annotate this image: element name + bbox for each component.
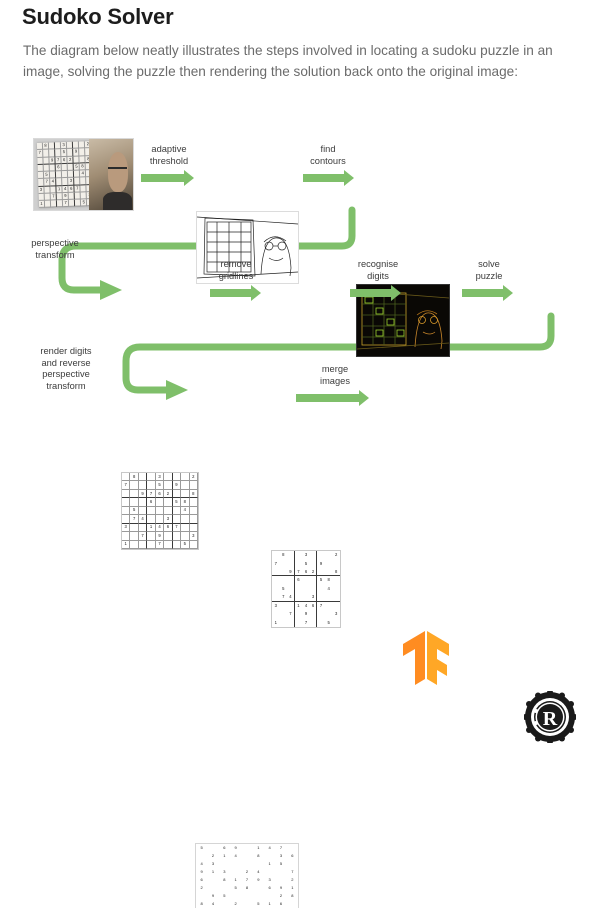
arrow-find-contours — [303, 174, 345, 182]
sudoku-cell: 3 — [310, 593, 318, 601]
sudoku-cell: 4 — [139, 515, 147, 523]
label-line-2: transform — [18, 250, 92, 262]
sudoku-cell: 4 — [253, 868, 264, 876]
sudoku-cell — [130, 498, 138, 506]
sudoku-cell — [173, 507, 181, 515]
sudoku-cell — [164, 473, 172, 481]
sudoku-cell: 2 — [164, 490, 172, 498]
sudoku-cell: 6 — [219, 844, 230, 852]
sudoku-cell: 1 — [230, 876, 241, 884]
sudoku-cell: 7 — [295, 568, 303, 576]
sudoku-cell — [190, 507, 198, 515]
sudoku-cell — [280, 602, 288, 610]
sudoku-cell — [164, 498, 172, 506]
step-label-remove-gridlines: remove gridlines — [207, 259, 265, 282]
sudoku-cell — [287, 602, 295, 610]
sudoku-cell — [325, 559, 333, 567]
sudoku-cell — [325, 551, 333, 559]
sudoku-cell — [230, 868, 241, 876]
sudoku-cell: 1 — [272, 619, 280, 627]
sudoku-cell — [139, 507, 147, 515]
sudoku-cell — [190, 481, 198, 489]
solution-digit-grid: 5691472148364315913247681793225869195288… — [196, 844, 298, 908]
sudoku-cell — [181, 481, 189, 489]
sudoku-cell — [219, 900, 230, 908]
sudoku-cell — [147, 541, 155, 549]
sudoku-cell: 5 — [317, 576, 325, 584]
label-line-1: find — [300, 144, 356, 156]
sudoku-cell: 6 — [295, 576, 303, 584]
sudoku-cell — [310, 610, 318, 618]
sudoku-cell — [253, 884, 264, 892]
sudoku-cell: 2 — [207, 852, 218, 860]
sudoku-cell — [310, 576, 318, 584]
sudoku-sheet: 832759976286585474331467793175 — [37, 141, 94, 208]
sudoku-cell: 2 — [190, 473, 198, 481]
sudoku-cell: 1 — [264, 900, 275, 908]
sudoku-cell: 9 — [317, 559, 325, 567]
label-line-2: images — [310, 376, 360, 388]
sudoku-cell — [173, 532, 181, 540]
sudoku-cell — [280, 576, 288, 584]
sudoku-cell — [295, 559, 303, 567]
sudoku-cell: 7 — [173, 524, 181, 532]
sudoku-cell — [173, 515, 181, 523]
sudoku-cell: 5 — [196, 844, 207, 852]
sudoku-cell: 3 — [190, 532, 198, 540]
sudoku-cell — [196, 892, 207, 900]
gridless-digits: 832759976286585474331467793175 — [271, 550, 341, 628]
sudoku-cell — [196, 852, 207, 860]
sudoku-cell: 5 — [230, 884, 241, 892]
sudoku-cell: 9 — [302, 610, 310, 618]
sudoku-cell — [241, 844, 252, 852]
sudoku-cell — [173, 473, 181, 481]
sudoku-cell: 4 — [302, 602, 310, 610]
sudoku-cell: 5 — [173, 498, 181, 506]
sudoku-cell: 6 — [310, 602, 318, 610]
sudoku-cell: 5 — [275, 860, 286, 868]
sudoku-cell — [253, 892, 264, 900]
sudoku-cell — [317, 585, 325, 593]
intro-paragraph: The diagram below neatly illustrates the… — [23, 40, 583, 82]
sudoku-cell: 4 — [287, 593, 295, 601]
sudoku-cell: 7 — [156, 541, 164, 549]
sudoku-cell: 8 — [219, 876, 230, 884]
sudoku-cell — [173, 541, 181, 549]
sudoku-cell — [317, 619, 325, 627]
sudoku-cell: 7 — [287, 610, 295, 618]
sudoku-cell — [122, 515, 130, 523]
sudoku-cell: 8 — [130, 473, 138, 481]
sudoku-grid-warped: 832759976286585474331467793175 — [122, 473, 198, 549]
sudoku-cell — [325, 602, 333, 610]
step-label-solve-puzzle: solve puzzle — [464, 259, 514, 282]
sudoku-cell: 9 — [156, 532, 164, 540]
sudoku-cell — [295, 610, 303, 618]
svg-text:R: R — [543, 708, 558, 730]
sudoku-cell — [207, 884, 218, 892]
sudoku-cell — [317, 551, 325, 559]
sudoku-cell — [264, 852, 275, 860]
label-line-2: digits — [347, 271, 409, 283]
arrow-solve-puzzle — [462, 289, 504, 297]
sudoku-cell — [156, 515, 164, 523]
sudoku-cell: 8 — [241, 884, 252, 892]
sudoku-cell — [130, 532, 138, 540]
sudoku-cell: 6 — [287, 852, 298, 860]
sudoku-cell: 4 — [181, 507, 189, 515]
sudoku-cell — [302, 576, 310, 584]
sudoku-cell: 9 — [139, 490, 147, 498]
sudoku-cell: 4 — [207, 900, 218, 908]
sudoku-cell: 2 — [287, 876, 298, 884]
sudoku-cell: 4 — [230, 852, 241, 860]
warped-sudoku-grid: 832759976286585474331467793175 — [121, 472, 199, 550]
sudoku-cell: 7 — [139, 532, 147, 540]
sudoku-digits-nolines: 832759976286585474331467793175 — [272, 551, 340, 627]
sudoku-cell: 3 — [272, 602, 280, 610]
sudoku-cell — [122, 473, 130, 481]
sudoku-cell — [280, 619, 288, 627]
sudoku-cell: 6 — [164, 524, 172, 532]
label-line-3: perspective — [26, 369, 106, 381]
step-label-render-digits: render digits and reverse perspective tr… — [26, 346, 106, 392]
sudoku-cell — [280, 559, 288, 567]
sudoku-cell — [272, 593, 280, 601]
sudoku-cell: 6 — [275, 900, 286, 908]
sudoku-cell: 5 — [181, 541, 189, 549]
sudoku-cell — [287, 619, 295, 627]
sudoku-cell: 9 — [275, 884, 286, 892]
sudoku-cell: 1 — [287, 884, 298, 892]
rendered-solution-digits: 5691472148364315913247681793225869195288… — [195, 843, 299, 908]
sudoku-cell — [287, 576, 295, 584]
sudoku-cell — [287, 551, 295, 559]
sudoku-cell — [310, 619, 318, 627]
sudoku-cell: 9 — [196, 868, 207, 876]
arrow-adaptive-threshold — [141, 174, 185, 182]
sudoku-cell: 5 — [156, 481, 164, 489]
sudoku-cell: 6 — [147, 498, 155, 506]
sudoku-cell — [317, 593, 325, 601]
sudoku-cell: 4 — [156, 524, 164, 532]
sudoku-cell: 9 — [173, 481, 181, 489]
step-label-merge-images: merge images — [310, 364, 360, 387]
sudoku-cell — [332, 619, 340, 627]
sudoku-cell: 2 — [275, 892, 286, 900]
sudoku-cell: 3 — [156, 473, 164, 481]
sudoku-cell — [164, 532, 172, 540]
sudoku-cell — [147, 481, 155, 489]
sudoku-cell: 9 — [287, 568, 295, 576]
label-line-1: perspective — [18, 238, 92, 250]
label-line-2: contours — [300, 156, 356, 168]
sudoku-cell: 2 — [230, 900, 241, 908]
sudoku-cell: 4 — [264, 844, 275, 852]
label-line-2: puzzle — [464, 271, 514, 283]
sudoku-cell — [332, 576, 340, 584]
sudoku-cell — [139, 541, 147, 549]
arrow-recognise-digits — [350, 289, 392, 297]
sudoku-cell: 9 — [207, 892, 218, 900]
sudoku-cell — [139, 498, 147, 506]
sudoku-cell — [302, 593, 310, 601]
sudoku-cell — [130, 524, 138, 532]
sudoku-cell: 3 — [207, 860, 218, 868]
sudoku-cell — [272, 585, 280, 593]
sudoku-cell — [287, 585, 295, 593]
sudoku-cell — [190, 515, 198, 523]
page-title: Sudoko Solver — [22, 4, 173, 30]
original-photo: 832759976286585474331467793175 — [33, 138, 134, 211]
sudoku-cell — [147, 473, 155, 481]
torso-shape — [103, 192, 132, 210]
label-line-1: solve — [464, 259, 514, 271]
label-line-4: transform — [26, 381, 106, 393]
sudoku-cell — [130, 490, 138, 498]
sudoku-cell — [241, 860, 252, 868]
document-page: Sudoko Solver The diagram below neatly i… — [0, 0, 600, 454]
sudoku-cell — [332, 585, 340, 593]
step-label-recognise-digits: recognise digits — [347, 259, 409, 282]
sudoku-cell — [332, 602, 340, 610]
sudoku-cell — [147, 507, 155, 515]
sudoku-cell — [219, 884, 230, 892]
step-label-adaptive-threshold: adaptive threshold — [138, 144, 200, 167]
sudoku-grid-original: 832759976286585474331467793175 — [37, 141, 94, 208]
sudoku-cell — [190, 498, 198, 506]
sudoku-cell: 3 — [275, 852, 286, 860]
sudoku-cell: 8 — [196, 900, 207, 908]
sudoku-cell — [272, 576, 280, 584]
label-line-2: and reverse — [26, 358, 106, 370]
sudoku-cell — [147, 515, 155, 523]
sudoku-cell — [295, 619, 303, 627]
sudoku-cell — [164, 507, 172, 515]
pipeline-diagram: 832759976286585474331467793175 adaptive … — [0, 128, 600, 454]
sudoku-cell: 6 — [156, 490, 164, 498]
sudoku-cell: 9 — [230, 844, 241, 852]
sudoku-cell: 7 — [302, 619, 310, 627]
sudoku-cell: 8 — [253, 852, 264, 860]
sudoku-cell: 8 — [190, 490, 198, 498]
sudoku-cell: 1 — [147, 524, 155, 532]
sudoku-cell — [122, 532, 130, 540]
sudoku-cell: 3 — [219, 868, 230, 876]
sudoku-cell — [139, 481, 147, 489]
rust-logo: R — [524, 691, 576, 743]
sudoku-cell: 5 — [253, 900, 264, 908]
sudoku-cell — [164, 541, 172, 549]
sudoku-cell — [272, 551, 280, 559]
sudoku-cell: 5 — [302, 559, 310, 567]
sudoku-cell — [332, 593, 340, 601]
sudoku-cell: 3 — [302, 551, 310, 559]
sudoku-cell — [181, 524, 189, 532]
person-face — [89, 139, 133, 210]
glasses-icon — [108, 167, 127, 174]
sudoku-cell — [139, 473, 147, 481]
sudoku-cell — [241, 852, 252, 860]
sudoku-cell: 8 — [181, 498, 189, 506]
sudoku-cell — [241, 892, 252, 900]
sudoku-cell — [287, 900, 298, 908]
sudoku-cell — [275, 876, 286, 884]
sudoku-cell — [164, 481, 172, 489]
sudoku-cell — [122, 507, 130, 515]
label-line-1: render digits — [26, 346, 106, 358]
sudoku-cell: 8 — [280, 551, 288, 559]
sudoku-cell — [272, 568, 280, 576]
sudoku-cell — [181, 473, 189, 481]
sudoku-cell: 6 — [302, 568, 310, 576]
sudoku-cell: 2 — [310, 568, 318, 576]
arrow-merge-images — [296, 394, 360, 402]
sudoku-cell — [181, 532, 189, 540]
sudoku-cell: 1 — [264, 860, 275, 868]
sudoku-cell — [275, 868, 286, 876]
sudoku-cell — [181, 515, 189, 523]
sudoku-cell: 5 — [130, 507, 138, 515]
label-line-1: remove — [207, 259, 265, 271]
step-label-perspective-transform: perspective transform — [18, 238, 92, 261]
sudoku-cell — [325, 568, 333, 576]
sudoku-cell: 7 — [275, 844, 286, 852]
sudoku-cell: 7 — [280, 593, 288, 601]
sudoku-cell — [310, 585, 318, 593]
sudoku-cell — [122, 490, 130, 498]
sudoku-cell — [230, 860, 241, 868]
sudoku-cell — [325, 593, 333, 601]
sudoku-cell: 1 — [295, 602, 303, 610]
sudoku-cell — [317, 568, 325, 576]
sudoku-cell: 2 — [241, 868, 252, 876]
sudoku-cell — [310, 559, 318, 567]
sudoku-cell — [156, 498, 164, 506]
sudoku-cell — [332, 559, 340, 567]
label-line-1: recognise — [347, 259, 409, 271]
label-line-1: merge — [310, 364, 360, 376]
sudoku-cell — [280, 610, 288, 618]
sudoku-cell — [190, 524, 198, 532]
sudoku-cell: 7 — [317, 602, 325, 610]
sudoku-cell — [295, 585, 303, 593]
sudoku-cell — [207, 844, 218, 852]
sudoku-cell — [156, 507, 164, 515]
sudoku-cell — [295, 593, 303, 601]
sudoku-cell — [173, 490, 181, 498]
sudoku-cell: 2 — [196, 884, 207, 892]
sudoku-cell — [302, 585, 310, 593]
step-label-find-contours: find contours — [300, 144, 356, 167]
sudoku-cell — [219, 860, 230, 868]
sudoku-cell — [253, 860, 264, 868]
sudoku-cell: 3 — [332, 610, 340, 618]
sudoku-cell — [264, 892, 275, 900]
sudoku-cell — [241, 900, 252, 908]
sudoku-cell: 7 — [241, 876, 252, 884]
sudoku-cell: 5 — [280, 585, 288, 593]
sudoku-cell — [147, 532, 155, 540]
label-line-2: gridlines — [207, 271, 265, 283]
sudoku-cell — [272, 610, 280, 618]
sudoku-cell: 5 — [219, 892, 230, 900]
sudoku-cell: 9 — [253, 876, 264, 884]
sudoku-cell — [181, 490, 189, 498]
sudoku-cell: 8 — [332, 568, 340, 576]
sudoku-cell: 1 — [122, 541, 130, 549]
sudoku-cell — [317, 610, 325, 618]
tensorflow-mark — [399, 629, 453, 687]
sudoku-cell — [207, 876, 218, 884]
sudoku-cell: 7 — [272, 559, 280, 567]
sudoku-cell: 1 — [253, 844, 264, 852]
sudoku-cell: 8 — [287, 892, 298, 900]
sudoku-cell — [310, 551, 318, 559]
sudoku-cell — [122, 498, 130, 506]
sudoku-cell — [280, 568, 288, 576]
sudoku-cell — [264, 868, 275, 876]
sudoku-cell: 3 — [264, 876, 275, 884]
sudoku-cell — [287, 860, 298, 868]
arrow-remove-gridlines — [210, 289, 252, 297]
sudoku-cell — [295, 551, 303, 559]
sudoku-cell — [325, 610, 333, 618]
sudoku-cell — [190, 541, 198, 549]
label-line-1: adaptive — [138, 144, 200, 156]
sudoku-cell: 2 — [332, 551, 340, 559]
sudoku-cell: 8 — [325, 576, 333, 584]
tensorflow-logo — [399, 629, 453, 687]
sudoku-cell: 7 — [287, 868, 298, 876]
sudoku-cell — [230, 892, 241, 900]
sudoku-cell: 4 — [196, 860, 207, 868]
sudoku-cell: 6 — [196, 876, 207, 884]
sudoku-cell: 5 — [325, 619, 333, 627]
sudoku-cell — [130, 541, 138, 549]
sudoku-cell: 3 — [122, 524, 130, 532]
sudoku-cell — [139, 524, 147, 532]
sudoku-cell: 3 — [164, 515, 172, 523]
sudoku-cell: 7 — [122, 481, 130, 489]
sudoku-cell: 1 — [219, 852, 230, 860]
sudoku-cell: 4 — [325, 585, 333, 593]
sudoku-cell — [130, 481, 138, 489]
sudoku-cell: 1 — [207, 868, 218, 876]
sudoku-cell — [287, 559, 295, 567]
sudoku-cell: 6 — [264, 884, 275, 892]
label-line-2: threshold — [138, 156, 200, 168]
sudoku-cell: 7 — [130, 515, 138, 523]
sudoku-cell: 7 — [147, 490, 155, 498]
sudoku-cell — [287, 844, 298, 852]
rust-mark: R — [524, 691, 576, 743]
